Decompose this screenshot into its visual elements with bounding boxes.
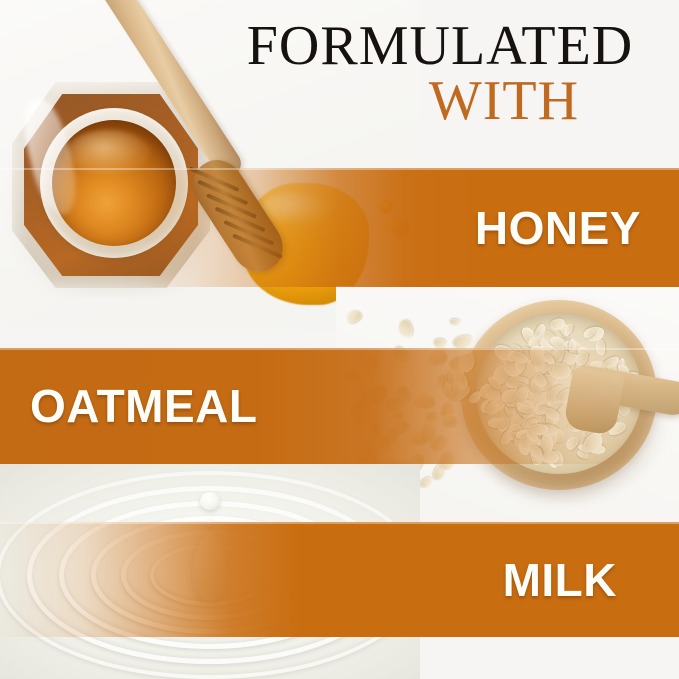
- oat-flake-icon: [344, 307, 364, 325]
- oat-flake-icon: [395, 318, 413, 339]
- formulated-with-ingredients-poster: FORMULATED WITH HONEY OATMEAL MILK: [0, 0, 679, 679]
- oat-flake-icon: [449, 319, 461, 326]
- ingredient-label-honey: HONEY: [475, 201, 641, 255]
- ingredient-band-oatmeal: OATMEAL: [0, 348, 679, 464]
- band-top-highlight: [0, 522, 679, 524]
- ingredient-band-honey: HONEY: [0, 168, 679, 287]
- milk-droplet-icon: [200, 492, 220, 510]
- ingredient-label-oatmeal: OATMEAL: [30, 379, 258, 433]
- band-top-highlight: [0, 168, 679, 170]
- band-top-highlight: [0, 348, 679, 350]
- ingredient-band-milk: MILK: [0, 522, 679, 637]
- ingredient-label-milk: MILK: [503, 553, 617, 607]
